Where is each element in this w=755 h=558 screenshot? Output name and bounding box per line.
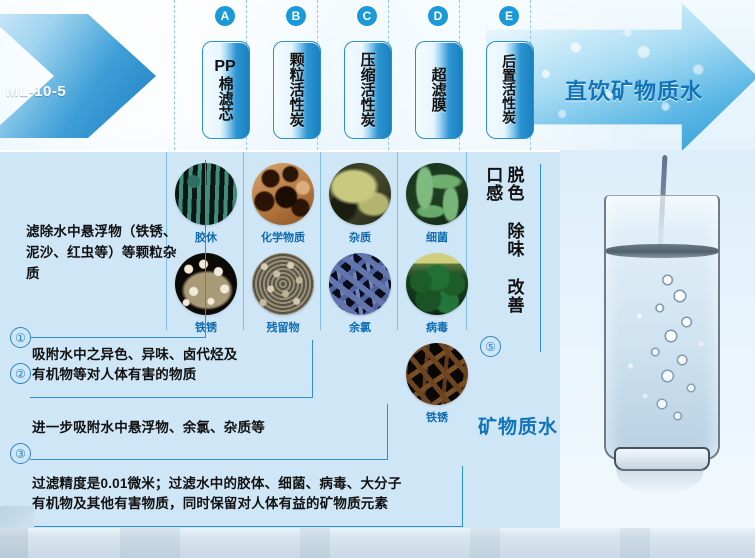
corner-fold-decor (0, 506, 34, 528)
thumb-virus (406, 253, 468, 315)
note-bracket-5 (540, 164, 541, 352)
thumb-caption-virus: 病毒 (392, 319, 482, 335)
glass-body (604, 195, 720, 460)
bottom-strip-ghost (0, 528, 755, 558)
note-text-3: 进一步吸附水中悬浮物、余氯、杂质等 (32, 418, 362, 438)
output-label: 直饮矿物质水 (565, 74, 703, 106)
stage-badge-a: A (215, 6, 235, 26)
note-bracket-1 (205, 160, 206, 338)
thumb-caption-bacteria: 细菌 (392, 229, 482, 245)
note-number-5: ⑤ (480, 336, 501, 357)
thumb-chemicals (252, 163, 314, 225)
note-rule-3 (30, 459, 387, 460)
note-rule-1 (30, 337, 205, 338)
note-number-1: ① (10, 327, 31, 348)
stage-badge-b: B (286, 6, 306, 26)
header-flow-diagram: ML-10-5 直饮矿物质水 A PP 棉滤芯 B 颗粒活性炭 C 压缩活性炭 … (0, 0, 755, 150)
stage-e-claim: 脱色 除味 改善口感 (482, 166, 525, 326)
thumb-rust-1 (175, 253, 237, 315)
thumb-residual-chlorine (329, 253, 391, 315)
bottom-photo-strip (0, 528, 755, 558)
note-bracket-2 (312, 340, 313, 398)
note-bracket-4 (462, 466, 463, 527)
mineral-water-label: 矿物质水 (478, 412, 558, 439)
note-number-2: ② (10, 363, 31, 384)
thumb-residue (252, 253, 314, 315)
stage-label-a: PP 棉滤芯 (202, 41, 248, 137)
stage-label-b: 颗粒活性炭 (273, 41, 319, 137)
note-text-4-line2: 有机物及其他有害物质，同时保留对人体有益的矿物质元素 (32, 494, 462, 514)
thumb-colloid (175, 163, 237, 225)
note-bracket-3 (387, 404, 388, 460)
column-divider-a (174, 0, 175, 150)
note-rule-4 (30, 526, 462, 527)
stage-label-a-latin: PP (214, 58, 235, 76)
stage-label-d: 超滤膜 (415, 41, 461, 137)
note-number-3: ③ (10, 443, 31, 464)
glass-base (614, 447, 710, 471)
thumb-caption-rust-2: 铁锈 (392, 409, 482, 425)
note-text-4-line1: 过滤精度是0.01微米；过滤水中的胶体、细菌、病毒、大分子 (32, 474, 462, 494)
note-text-3-line1: 进一步吸附水中悬浮物、余氯、杂质等 (32, 418, 362, 438)
stage-badge-c: C (357, 6, 377, 26)
water-bubbles (606, 256, 718, 456)
stage-badge-e: E (499, 6, 519, 26)
note-text-4: 过滤精度是0.01微米；过滤水中的胶体、细菌、病毒、大分子 有机物及其他有害物质… (32, 474, 462, 513)
thumb-rust-2 (406, 343, 468, 405)
thumb-impurities (329, 163, 391, 225)
thumb-bacteria (406, 163, 468, 225)
note-rule-2 (30, 397, 312, 398)
stage-badge-d: D (428, 6, 448, 26)
stage-label-e: 后置活性炭 (486, 41, 532, 137)
stage-label-c: 压缩活性炭 (344, 41, 390, 137)
infographic-root: ML-10-5 直饮矿物质水 A PP 棉滤芯 B 颗粒活性炭 C 压缩活性炭 … (0, 0, 755, 558)
water-glass-image (600, 195, 720, 485)
stage-label-a-cn: 棉滤芯 (217, 76, 232, 121)
model-label: ML-10-5 (6, 83, 66, 100)
